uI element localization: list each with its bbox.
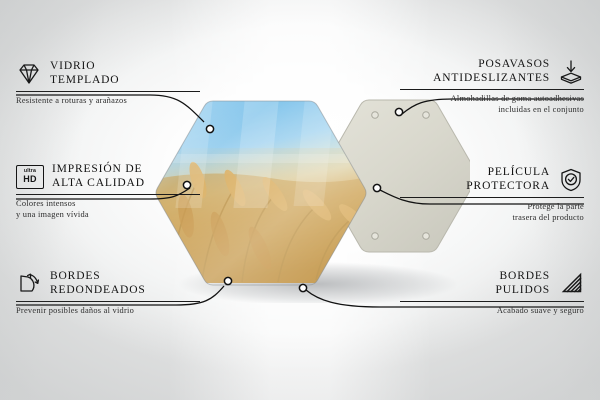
feature-divider (16, 194, 200, 195)
shield-check-icon (558, 167, 584, 193)
feature-title-line2: ANTIDESLIZANTES (433, 72, 550, 86)
feature-title-line2: ALTA CALIDAD (52, 177, 145, 191)
feature-rounded-edges: BORDES REDONDEADOS Prevenir posibles dañ… (16, 270, 200, 317)
rounded-corner-icon (16, 271, 42, 297)
feature-divider (400, 89, 584, 90)
feature-title-line1: POSAVASOS (433, 58, 550, 72)
feature-subtitle-line1: Resistente a roturas y arañazos (16, 96, 200, 107)
feature-tempered-glass: VIDRIO TEMPLADO Resistente a roturas y a… (16, 60, 200, 107)
feature-subtitle-line2: trasera del producto (400, 213, 584, 224)
feature-title-line1: IMPRESIÓN DE (52, 163, 145, 177)
feature-divider (16, 91, 200, 92)
feature-title-line2: PULIDOS (495, 284, 550, 298)
feature-divider (400, 197, 584, 198)
feature-title-line2: REDONDEADOS (50, 284, 146, 298)
feature-title-line1: BORDES (495, 270, 550, 284)
feature-subtitle-line1: Almohadillas de goma autoadhesivas (400, 94, 584, 105)
diamond-gem-icon (16, 61, 42, 87)
feature-divider (16, 301, 200, 302)
feature-subtitle-line1: Acabado suave y seguro (400, 306, 584, 317)
pad-down-arrow-icon (558, 59, 584, 85)
feature-high-quality-print: ultra HD IMPRESIÓN DE ALTA CALIDAD Color… (16, 163, 200, 220)
feature-subtitle-line1: Protege la parte (400, 202, 584, 213)
feature-divider (400, 301, 584, 302)
feature-subtitle-line1: Prevenir posibles daños al vidrio (16, 306, 200, 317)
feature-title-line1: BORDES (50, 270, 146, 284)
infographic-canvas: VIDRIO TEMPLADO Resistente a roturas y a… (0, 0, 600, 400)
feature-subtitle-line2: incluidas en el conjunto (400, 105, 584, 116)
feature-protective-film: PELÍCULA PROTECTORA Protege la parte tra… (400, 166, 584, 223)
polished-edge-hatch-icon (558, 271, 584, 297)
feature-title-line2: TEMPLADO (50, 74, 119, 88)
feature-polished-edges: BORDES PULIDOS Acabado suave y seguro (400, 270, 584, 317)
feature-title-line1: VIDRIO (50, 60, 119, 74)
feature-title-line2: PROTECTORA (466, 180, 550, 194)
feature-non-slip-coasters: POSAVASOS ANTIDESLIZANTES Almohadillas d… (400, 58, 584, 115)
feature-subtitle-line2: y una imagen vívida (16, 210, 200, 221)
ultra-hd-badge-icon: ultra HD (16, 165, 44, 189)
badge-bottom-label: HD (23, 175, 37, 184)
feature-title-line1: PELÍCULA (466, 166, 550, 180)
feature-subtitle-line1: Colores intensos (16, 199, 200, 210)
